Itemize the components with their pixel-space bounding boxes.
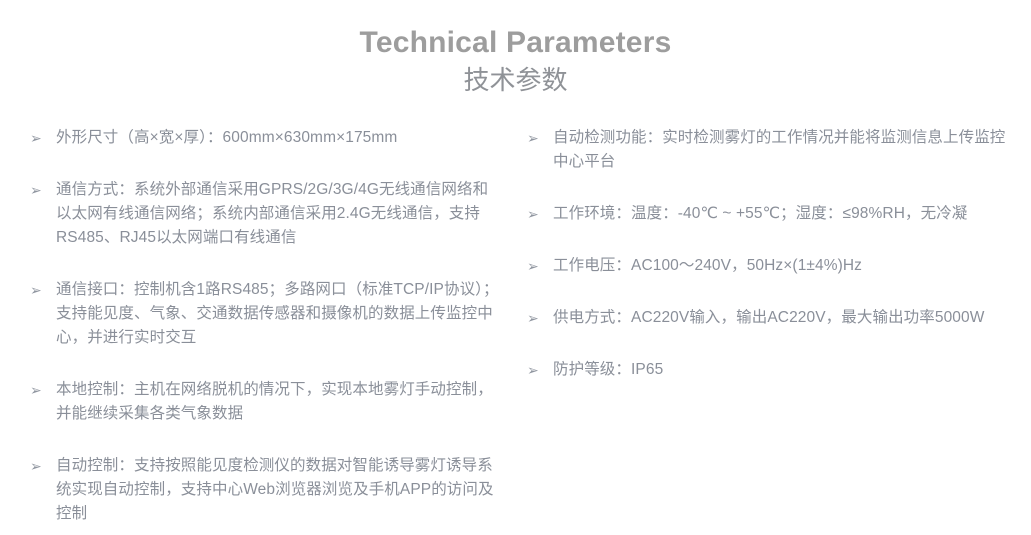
spec-column-left: ➢ 外形尺寸（高×宽×厚）：600mm×630mm×175mm ➢ 通信方式：系… — [0, 126, 516, 526]
list-item: ➢ 工作环境：温度：-40℃ ~ +55℃；湿度：≤98%RH，无冷凝 — [527, 202, 1011, 226]
list-item: ➢ 外形尺寸（高×宽×厚）：600mm×630mm×175mm — [30, 126, 500, 150]
spec-text: 通信方式：系统外部通信采用GPRS/2G/3G/4G无线通信网络和以太网有线通信… — [56, 178, 500, 250]
spec-text: 工作电压：AC100～240V，50Hz×(1±4%)Hz — [553, 254, 1011, 278]
list-item: ➢ 通信方式：系统外部通信采用GPRS/2G/3G/4G无线通信网络和以太网有线… — [30, 178, 500, 250]
list-item: ➢ 防护等级：IP65 — [527, 358, 1011, 382]
arrow-bullet-icon: ➢ — [30, 454, 48, 478]
arrow-bullet-icon: ➢ — [30, 278, 48, 302]
arrow-bullet-icon: ➢ — [527, 254, 545, 278]
arrow-bullet-icon: ➢ — [30, 378, 48, 402]
list-item: ➢ 供电方式：AC220V输入，输出AC220V，最大输出功率5000W — [527, 306, 1011, 330]
arrow-bullet-icon: ➢ — [30, 126, 48, 150]
list-item: ➢ 自动检测功能：实时检测雾灯的工作情况并能将监测信息上传监控中心平台 — [527, 126, 1011, 174]
spec-text: 供电方式：AC220V输入，输出AC220V，最大输出功率5000W — [553, 306, 1011, 330]
spec-text: 工作环境：温度：-40℃ ~ +55℃；湿度：≤98%RH，无冷凝 — [553, 202, 1011, 226]
spec-columns: ➢ 外形尺寸（高×宽×厚）：600mm×630mm×175mm ➢ 通信方式：系… — [0, 126, 1031, 526]
list-item: ➢ 本地控制：主机在网络脱机的情况下，实现本地雾灯手动控制，并能继续采集各类气象… — [30, 378, 500, 426]
spec-list-right: ➢ 自动检测功能：实时检测雾灯的工作情况并能将监测信息上传监控中心平台 ➢ 工作… — [527, 126, 1011, 382]
list-item: ➢ 通信接口：控制机含1路RS485；多路网口（标准TCP/IP协议）；支持能见… — [30, 278, 500, 350]
spec-text: 防护等级：IP65 — [553, 358, 1011, 382]
list-item: ➢ 工作电压：AC100～240V，50Hz×(1±4%)Hz — [527, 254, 1011, 278]
page-title-chinese: 技术参数 — [0, 63, 1031, 98]
arrow-bullet-icon: ➢ — [527, 202, 545, 226]
technical-parameters-page: Technical Parameters 技术参数 ➢ 外形尺寸（高×宽×厚）：… — [0, 0, 1031, 535]
spec-text: 自动检测功能：实时检测雾灯的工作情况并能将监测信息上传监控中心平台 — [553, 126, 1011, 174]
arrow-bullet-icon: ➢ — [527, 358, 545, 382]
arrow-bullet-icon: ➢ — [527, 126, 545, 150]
spec-text: 自动控制：支持按照能见度检测仪的数据对智能诱导雾灯诱导系统实现自动控制，支持中心… — [56, 454, 500, 526]
spec-text: 外形尺寸（高×宽×厚）：600mm×630mm×175mm — [56, 126, 500, 150]
arrow-bullet-icon: ➢ — [30, 178, 48, 202]
spec-text: 本地控制：主机在网络脱机的情况下，实现本地雾灯手动控制，并能继续采集各类气象数据 — [56, 378, 500, 426]
arrow-bullet-icon: ➢ — [527, 306, 545, 330]
spec-text: 通信接口：控制机含1路RS485；多路网口（标准TCP/IP协议）；支持能见度、… — [56, 278, 500, 350]
spec-column-right: ➢ 自动检测功能：实时检测雾灯的工作情况并能将监测信息上传监控中心平台 ➢ 工作… — [516, 126, 1031, 382]
spec-list-left: ➢ 外形尺寸（高×宽×厚）：600mm×630mm×175mm ➢ 通信方式：系… — [30, 126, 500, 526]
page-header: Technical Parameters 技术参数 — [0, 0, 1031, 98]
list-item: ➢ 自动控制：支持按照能见度检测仪的数据对智能诱导雾灯诱导系统实现自动控制，支持… — [30, 454, 500, 526]
page-title-english: Technical Parameters — [0, 26, 1031, 61]
